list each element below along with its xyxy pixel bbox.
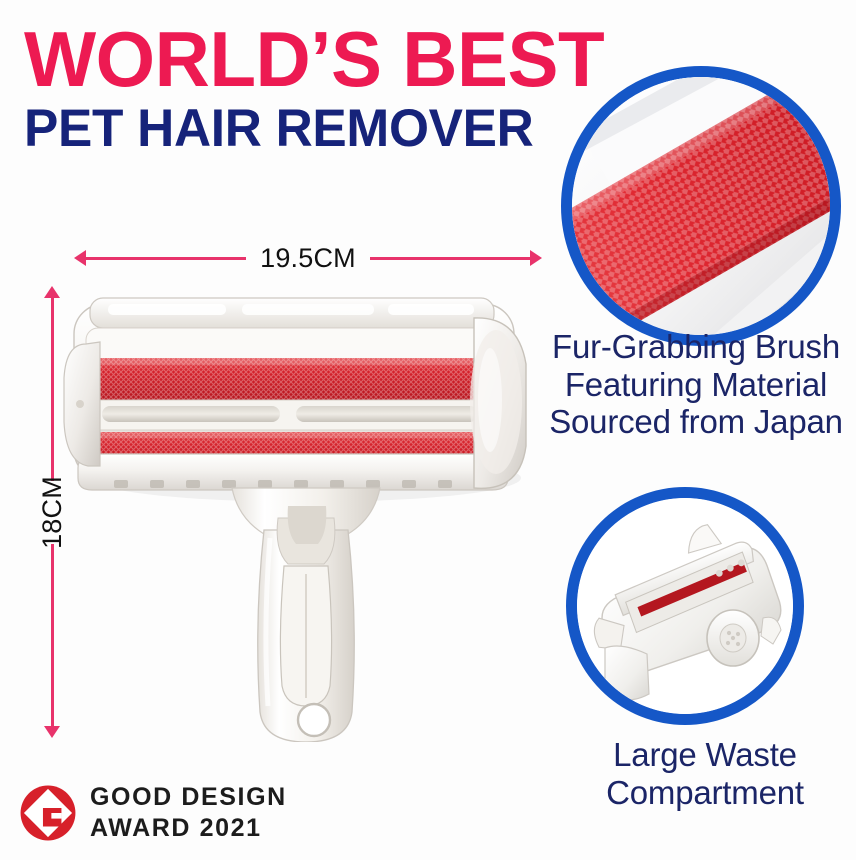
headline-block: WORLD’S BEST PET HAIR REMOVER (24, 24, 524, 155)
brush-closeup-circle (561, 66, 841, 346)
product-infographic: WORLD’S BEST PET HAIR REMOVER 19.5CM 18C… (0, 0, 856, 860)
product-illustration (56, 282, 556, 742)
width-dimension-label: 19.5CM (246, 243, 370, 274)
arrow-down-icon (51, 544, 54, 729)
arrow-right-icon (370, 257, 532, 260)
headline-secondary: PET HAIR REMOVER (24, 102, 509, 155)
headline-primary: WORLD’S BEST (24, 24, 514, 96)
good-design-g-mark-logo (20, 785, 76, 841)
arrow-up-icon (51, 296, 54, 481)
good-design-award-label: GOOD DESIGN AWARD 2021 (90, 782, 287, 843)
compartment-closeup-circle (566, 487, 804, 725)
g-mark-icon (20, 785, 76, 841)
compartment-closeup-image (577, 498, 793, 714)
brush-feature-caption: Fur-Grabbing Brush Featuring Material So… (536, 328, 856, 441)
brush-macro-illustration (572, 77, 830, 335)
compartment-feature-caption: Large Waste Compartment (560, 736, 850, 811)
arrow-left-icon (84, 257, 246, 260)
good-design-award-badge: GOOD DESIGN AWARD 2021 (20, 782, 287, 843)
width-dimension: 19.5CM (84, 240, 532, 276)
brush-closeup-image (572, 77, 830, 335)
waste-compartment-illustration (577, 498, 793, 714)
product-image (56, 282, 556, 742)
